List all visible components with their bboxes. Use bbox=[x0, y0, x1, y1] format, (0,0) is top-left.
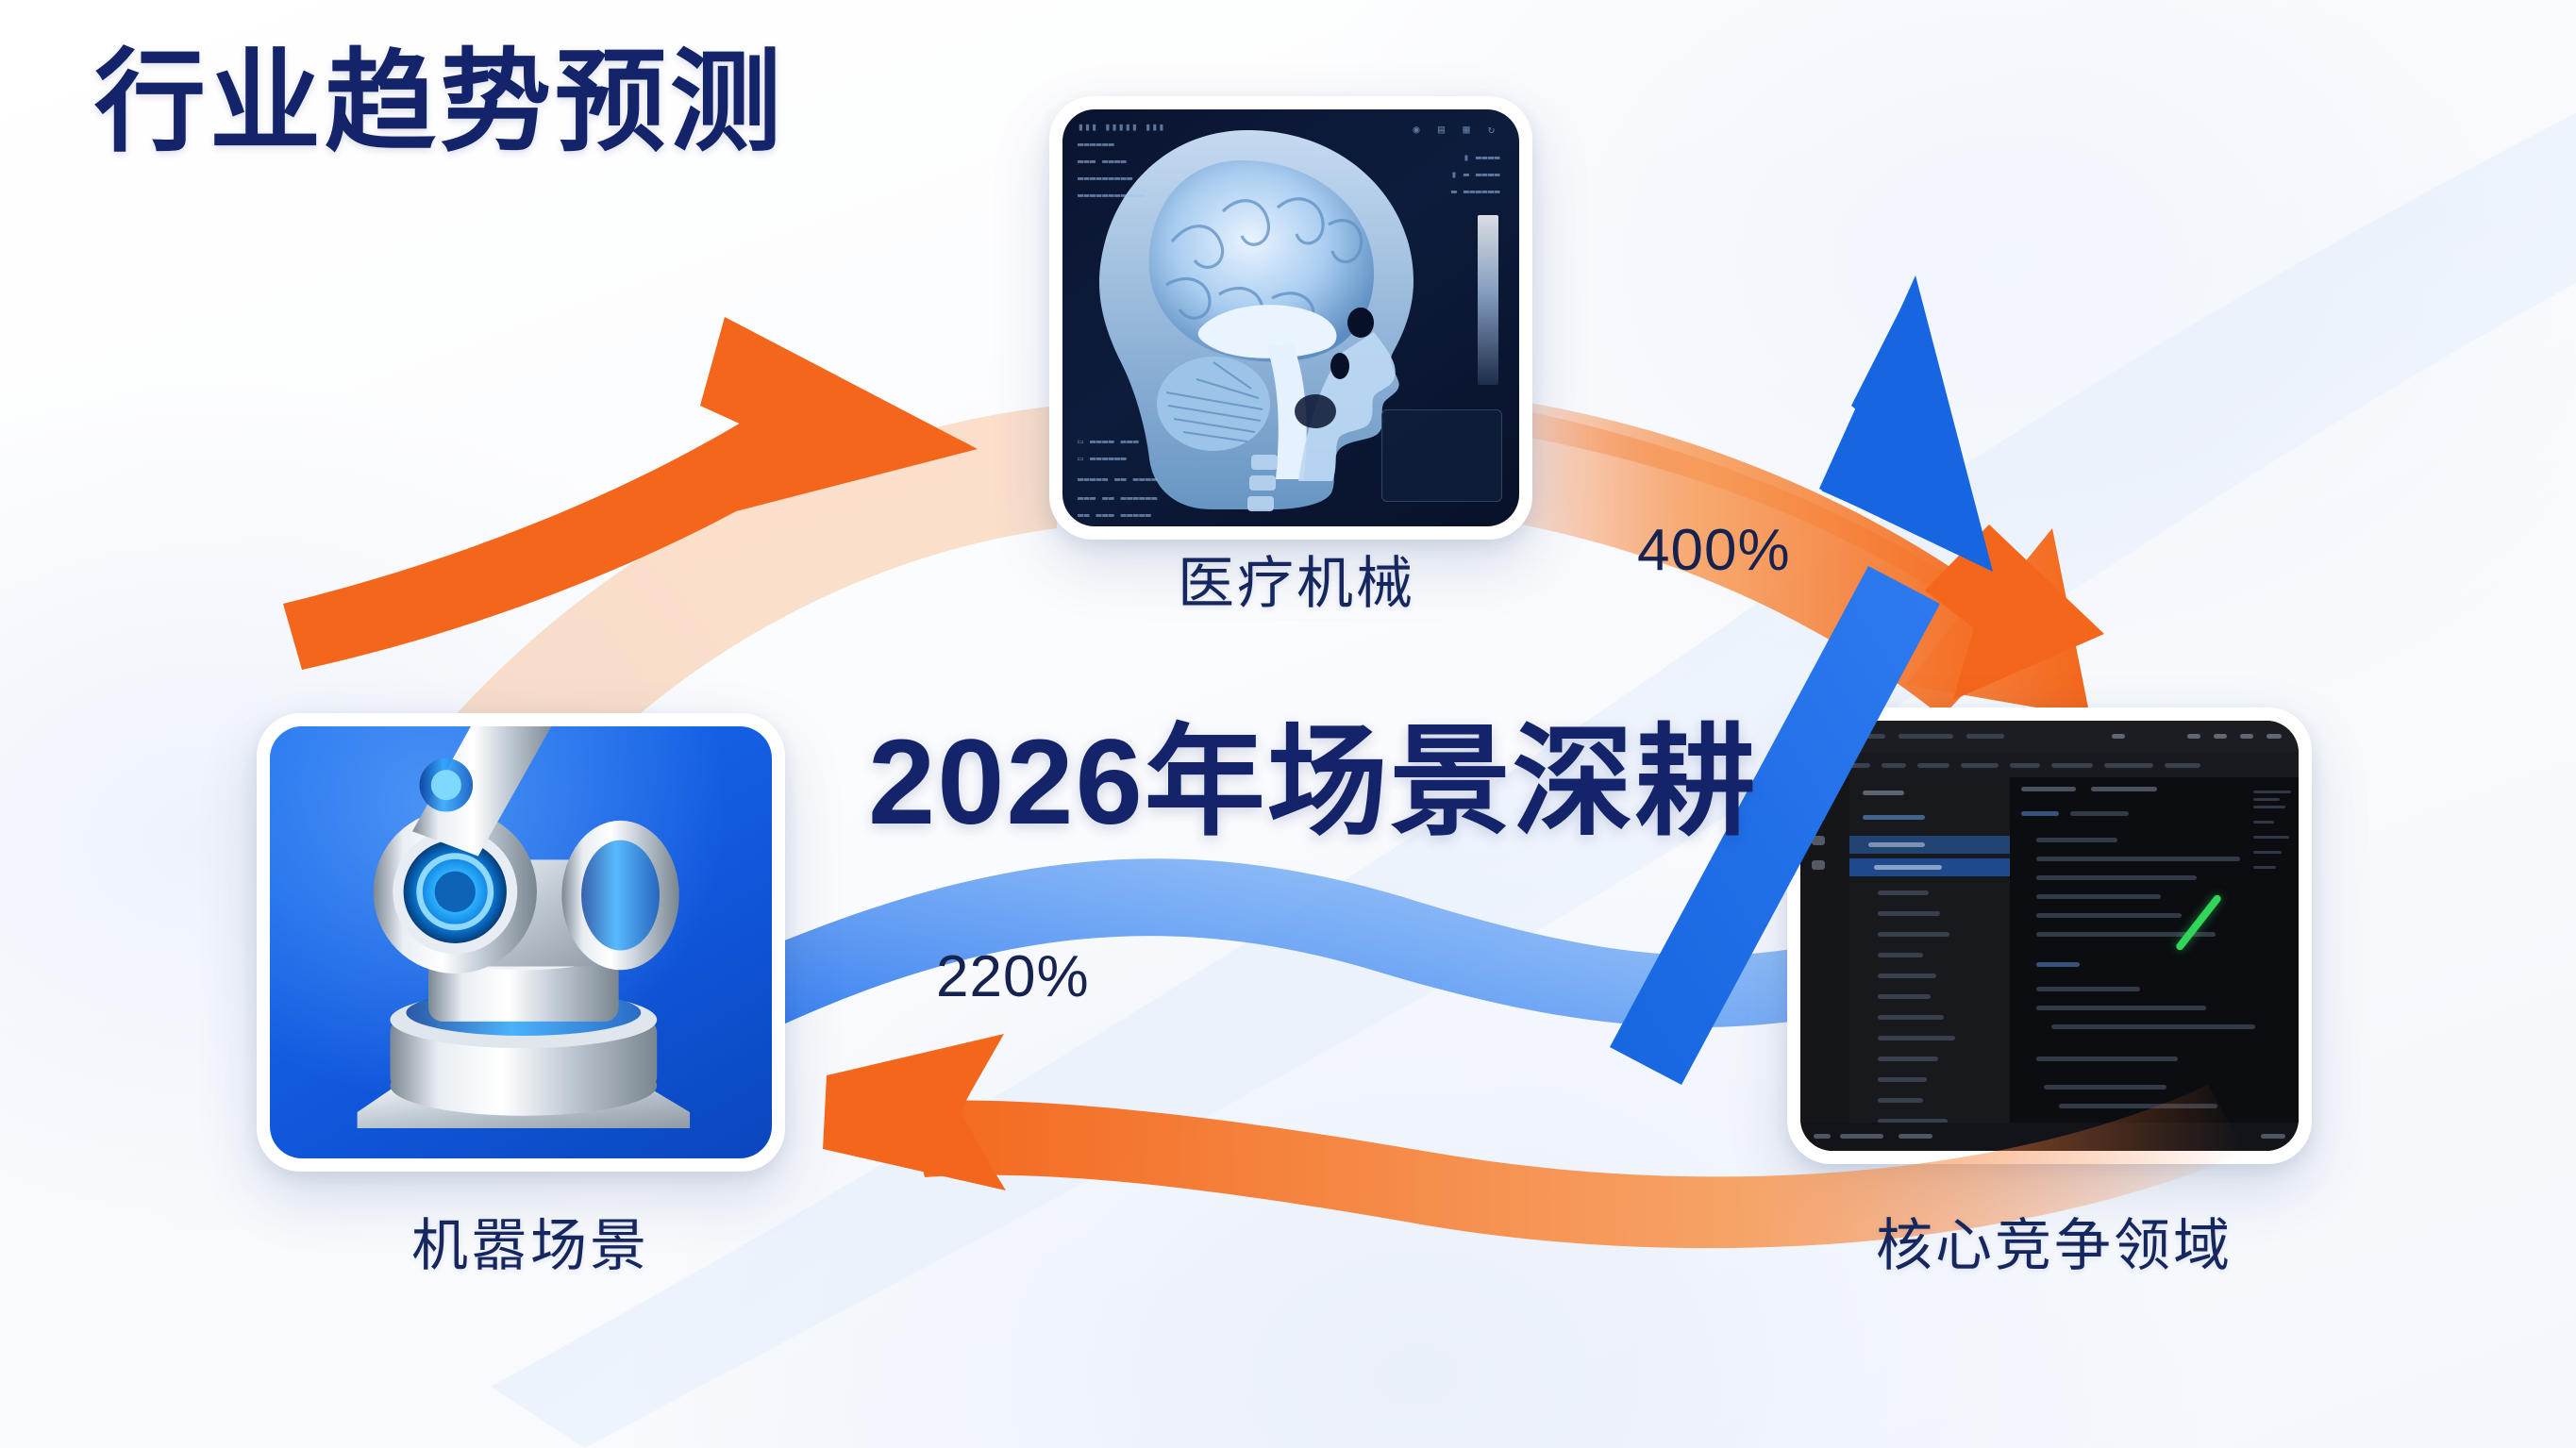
card-label-code: 核心竞争领域 bbox=[1876, 1200, 2233, 1282]
page-title: 行业趋势预测 bbox=[94, 38, 785, 169]
center-headline: 2026年场景深耕 bbox=[868, 717, 1758, 850]
card-label-brain: 医疗机械 bbox=[1178, 538, 1415, 620]
metric-220-percent: 220% bbox=[936, 943, 1090, 1010]
card-label-robot: 机嚣场景 bbox=[411, 1200, 649, 1282]
blue-up-right-arrow bbox=[1610, 275, 1993, 1085]
metric-400-percent: 400% bbox=[1637, 517, 1791, 584]
infographic-canvas: ▮▮▮ ▮▮▮▮▮ ▮▮▮ ▬▬▬▬▬▬ ▬▬▬ ▬▬▬▬ ▬▬▬▬▬▬▬▬▬ … bbox=[0, 0, 2576, 1448]
